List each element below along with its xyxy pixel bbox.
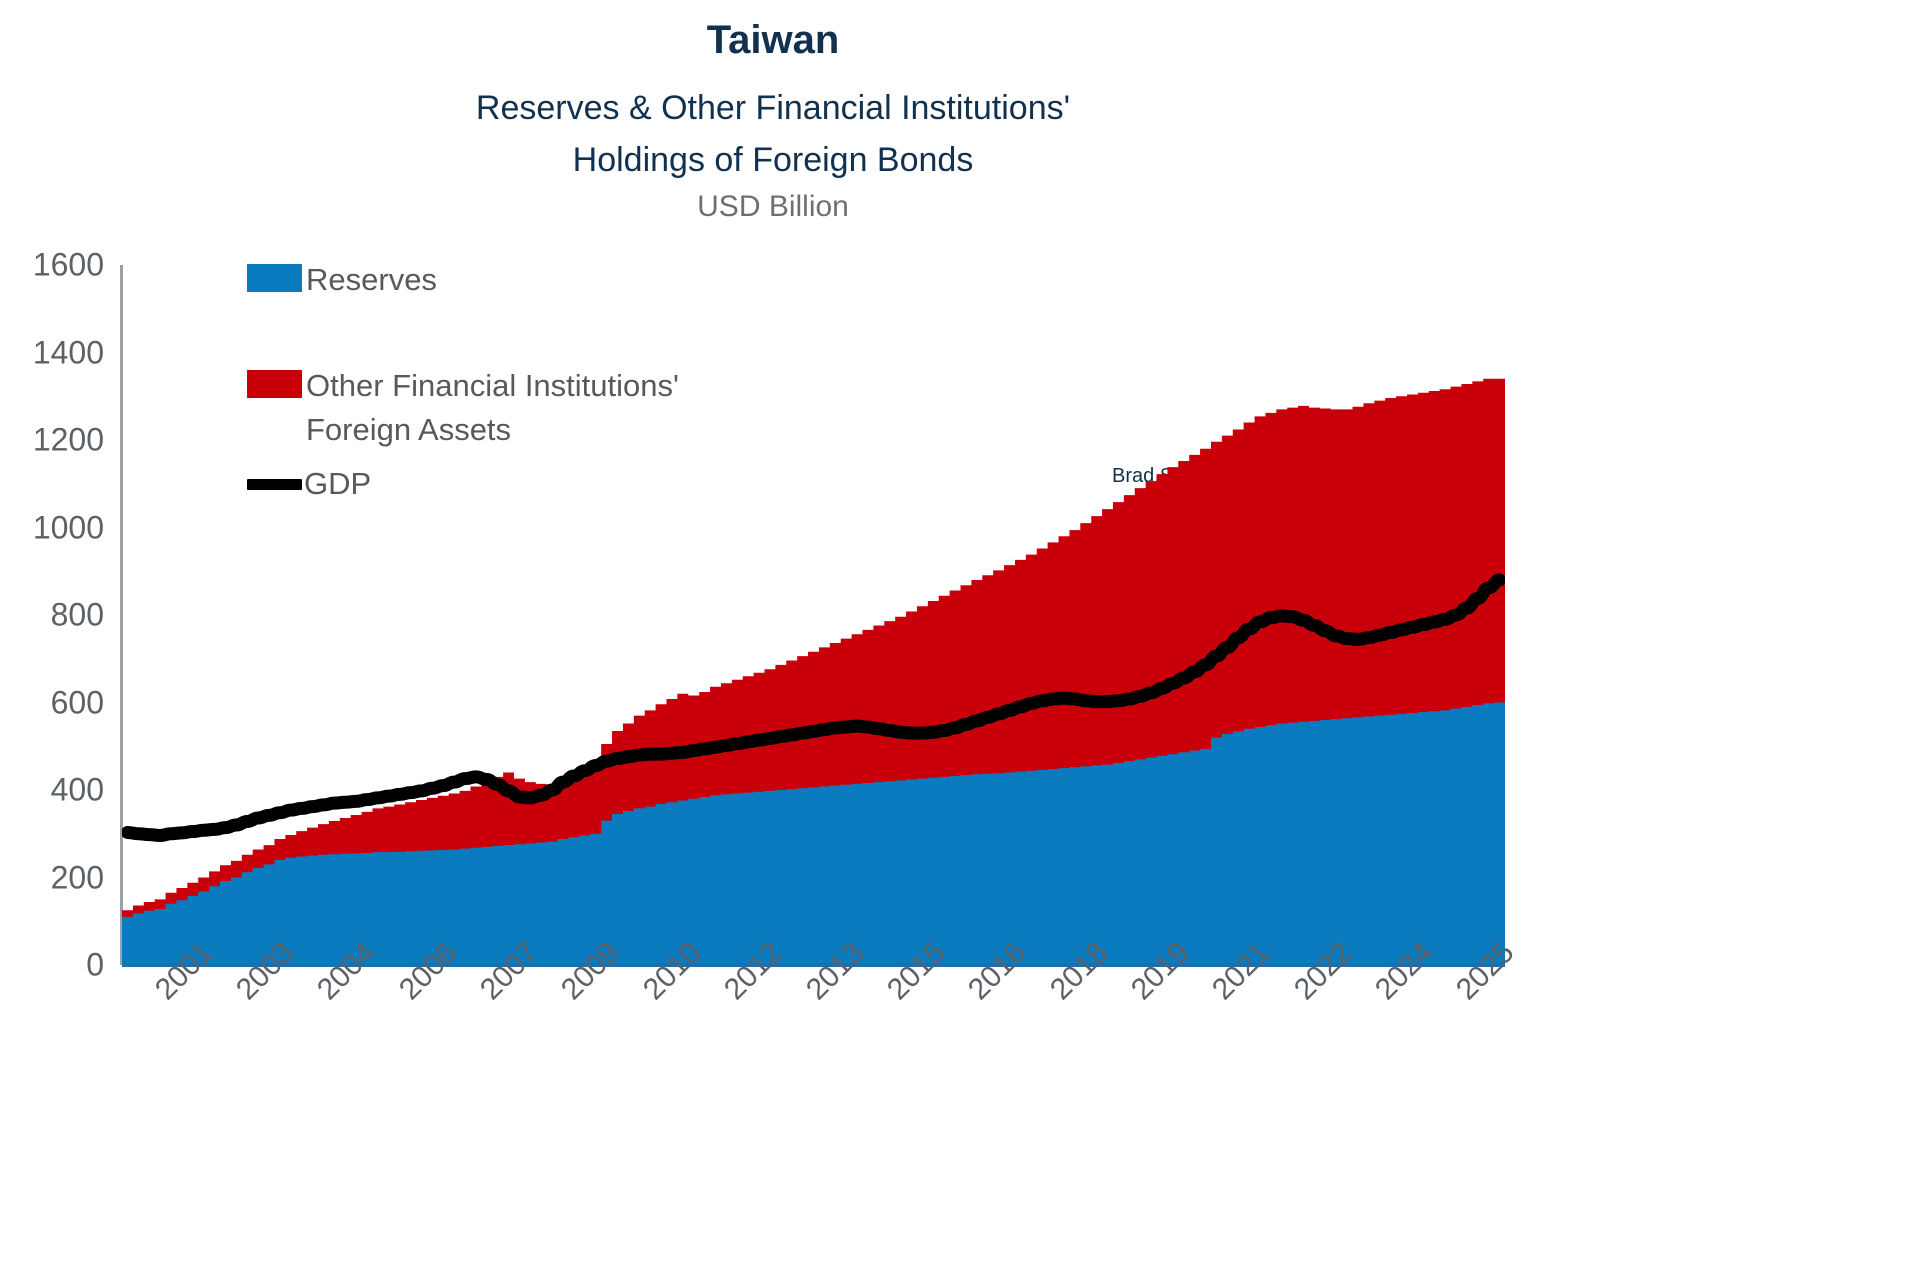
y-axis-tick-label: 200 <box>51 859 104 896</box>
y-axis-tick-label: 1000 <box>33 509 104 546</box>
y-axis-tick-label: 1200 <box>33 422 104 459</box>
y-axis-tick-label: 1400 <box>33 334 104 371</box>
plot-area <box>122 265 1505 965</box>
y-axis-tick-label: 400 <box>51 772 104 809</box>
chart-subtitle: Reserves & Other Financial Institutions'… <box>0 82 1546 186</box>
x-axis-labels: 2001200320042006200720092010201220132015… <box>0 965 1546 1165</box>
y-axis-tick-label: 600 <box>51 684 104 721</box>
chart-title: Taiwan <box>0 18 1546 63</box>
chart-subtitle-line1: Reserves & Other Financial Institutions' <box>0 82 1546 134</box>
plot-svg <box>122 265 1505 965</box>
chart-canvas: Taiwan Reserves & Other Financial Instit… <box>0 0 1546 1280</box>
y-axis-tick-label: 800 <box>51 597 104 634</box>
chart-subtitle-line2: Holdings of Foreign Bonds <box>0 134 1546 186</box>
y-axis-tick-label: 1600 <box>33 247 104 284</box>
chart-units-label: USD Billion <box>0 190 1546 224</box>
